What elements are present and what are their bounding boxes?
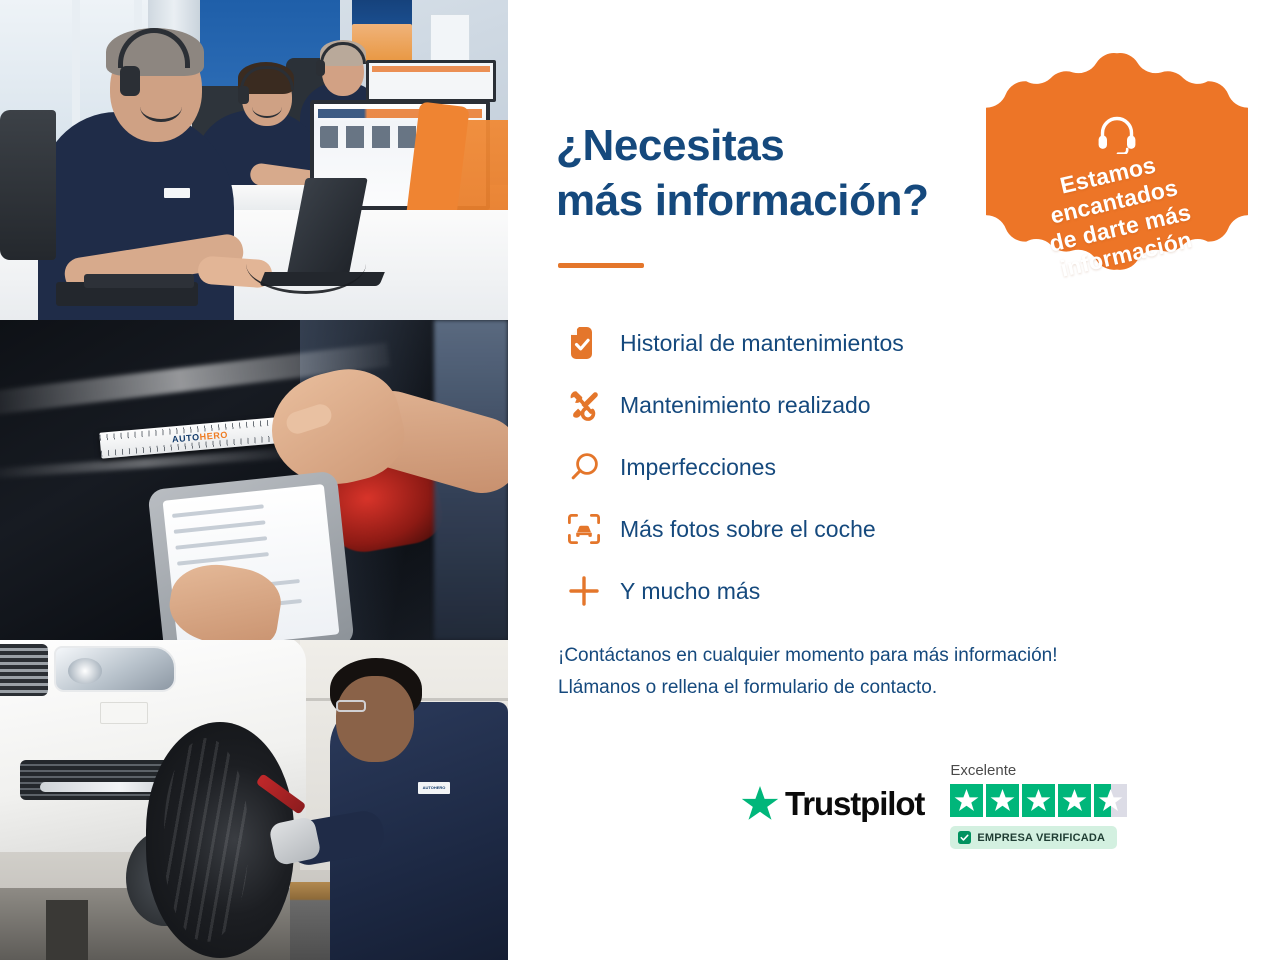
car-headlight — [54, 646, 176, 692]
rating-label: Excelente — [950, 762, 1016, 779]
headset-earcup — [120, 66, 140, 96]
promo-badge: Estamos encantados de darte más informac… — [986, 48, 1248, 310]
headline-line-1: ¿Necesitas — [556, 121, 784, 170]
contact-copy-line-2: Llámanos o rellena el formulario de cont… — [558, 677, 937, 698]
tablet-list-row — [174, 520, 266, 534]
verified-label: EMPRESA VERIFICADA — [977, 832, 1105, 844]
polo-logo — [164, 188, 190, 198]
tablet-list-row — [177, 552, 269, 566]
headset-earcup — [238, 86, 249, 104]
feature-item-mantenimiento: Mantenimiento realizado — [558, 374, 1158, 436]
star-filled — [1022, 784, 1055, 817]
document-check-icon — [558, 326, 610, 360]
star-filled — [1058, 784, 1091, 817]
trustpilot-star-icon — [740, 784, 780, 824]
desk-notebook — [84, 274, 194, 288]
feature-label: Mantenimiento realizado — [610, 392, 871, 419]
badge-text: Estamos encantados de darte más informac… — [1034, 146, 1199, 284]
photo-column: AUTOHERO — [0, 0, 508, 960]
feature-label: Imperfecciones — [610, 454, 776, 481]
tablet-list-row — [175, 536, 267, 550]
contact-copy: ¡Contáctanos en cualquier momento para m… — [558, 640, 1238, 704]
star-filled — [950, 784, 983, 817]
call-centre-agents-photo — [0, 0, 508, 320]
badge-content: Estamos encantados de darte más informac… — [986, 48, 1248, 310]
trustpilot-block: Trustpilot Excelente — [740, 762, 1127, 849]
feature-list: Historial de mantenimientos Mantenimient… — [558, 312, 1158, 622]
title-divider — [558, 263, 644, 268]
tablet-list-row — [172, 504, 264, 518]
trustpilot-wordmark: Trustpilot — [785, 785, 924, 823]
star-rating — [950, 784, 1127, 817]
technician-polo-logo: AUTOHERO — [418, 782, 450, 794]
headset-earcup — [316, 60, 325, 76]
headset-icon — [1096, 114, 1138, 159]
verified-company-badge: EMPRESA VERIFICADA — [950, 826, 1117, 849]
car-scan-icon — [558, 513, 610, 545]
star-half — [1094, 784, 1127, 817]
plus-icon — [558, 575, 610, 607]
lift-post — [46, 900, 88, 960]
workshop-wheel-photo: AUTOHERO — [0, 640, 508, 960]
feature-item-mas: Y mucho más — [558, 560, 1158, 622]
page-title: ¿Necesitas más información? — [556, 118, 929, 229]
headline-line-2: más información? — [556, 176, 929, 225]
promo-panel: AUTOHERO — [0, 0, 1280, 960]
tools-icon — [558, 388, 610, 422]
office-chair — [0, 110, 56, 260]
licence-plate-blank — [100, 702, 148, 724]
trustpilot-logo[interactable]: Trustpilot — [740, 784, 924, 824]
check-square-icon — [958, 831, 971, 844]
feature-item-historial: Historial de mantenimientos — [558, 312, 1158, 374]
contact-copy-line-1: ¡Contáctanos en cualquier momento para m… — [558, 645, 1058, 666]
car-inspection-ruler-photo: AUTOHERO — [0, 320, 508, 640]
star-filled — [986, 784, 1019, 817]
feature-item-fotos: Más fotos sobre el coche — [558, 498, 1158, 560]
magnifier-icon — [558, 451, 610, 483]
wall-notice — [430, 14, 470, 64]
technician-head — [336, 676, 414, 762]
car-grille — [0, 644, 48, 696]
feature-label: Y mucho más — [610, 578, 760, 605]
feature-label: Historial de mantenimientos — [610, 330, 904, 357]
back-monitor — [366, 60, 496, 102]
feature-label: Más fotos sobre el coche — [610, 516, 876, 543]
trustpilot-rating: Excelente — [950, 762, 1127, 849]
feature-item-imperfecciones: Imperfecciones — [558, 436, 1158, 498]
technician-glasses — [336, 700, 366, 712]
